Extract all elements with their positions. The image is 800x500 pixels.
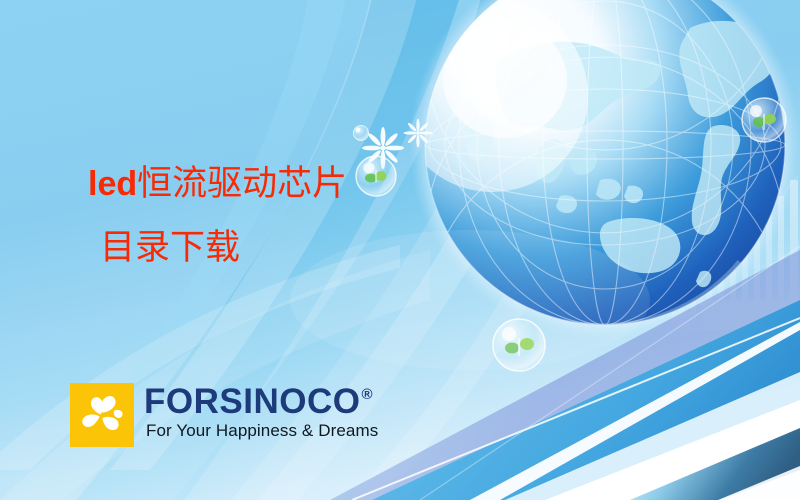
- promo-banner: led恒流驱动芯片 目录下载 FORSINOCO ® For Your Happ…: [0, 0, 800, 500]
- brand-logo[interactable]: FORSINOCO ® For Your Happiness & Dreams: [70, 383, 378, 447]
- registered-trademark-icon: ®: [361, 387, 373, 402]
- logo-text-block: FORSINOCO ® For Your Happiness & Dreams: [144, 384, 378, 440]
- headline-latin-led: led: [88, 165, 137, 203]
- headline-cjk-text: 恒流驱动芯片: [137, 164, 347, 203]
- logo-tagline: For Your Happiness & Dreams: [146, 421, 378, 440]
- bubble-sprout-3: [742, 98, 786, 142]
- logo-wordmark-text: FORSINOCO: [144, 384, 360, 420]
- headline-line-1: led恒流驱动芯片: [88, 163, 418, 205]
- headline: led恒流驱动芯片 目录下载: [88, 163, 418, 269]
- forsinoco-pinwheel-icon: [70, 383, 134, 447]
- headline-line-2: 目录下载: [100, 227, 418, 269]
- logo-wordmark-row: FORSINOCO ®: [144, 384, 378, 420]
- bubble-small: [354, 126, 369, 141]
